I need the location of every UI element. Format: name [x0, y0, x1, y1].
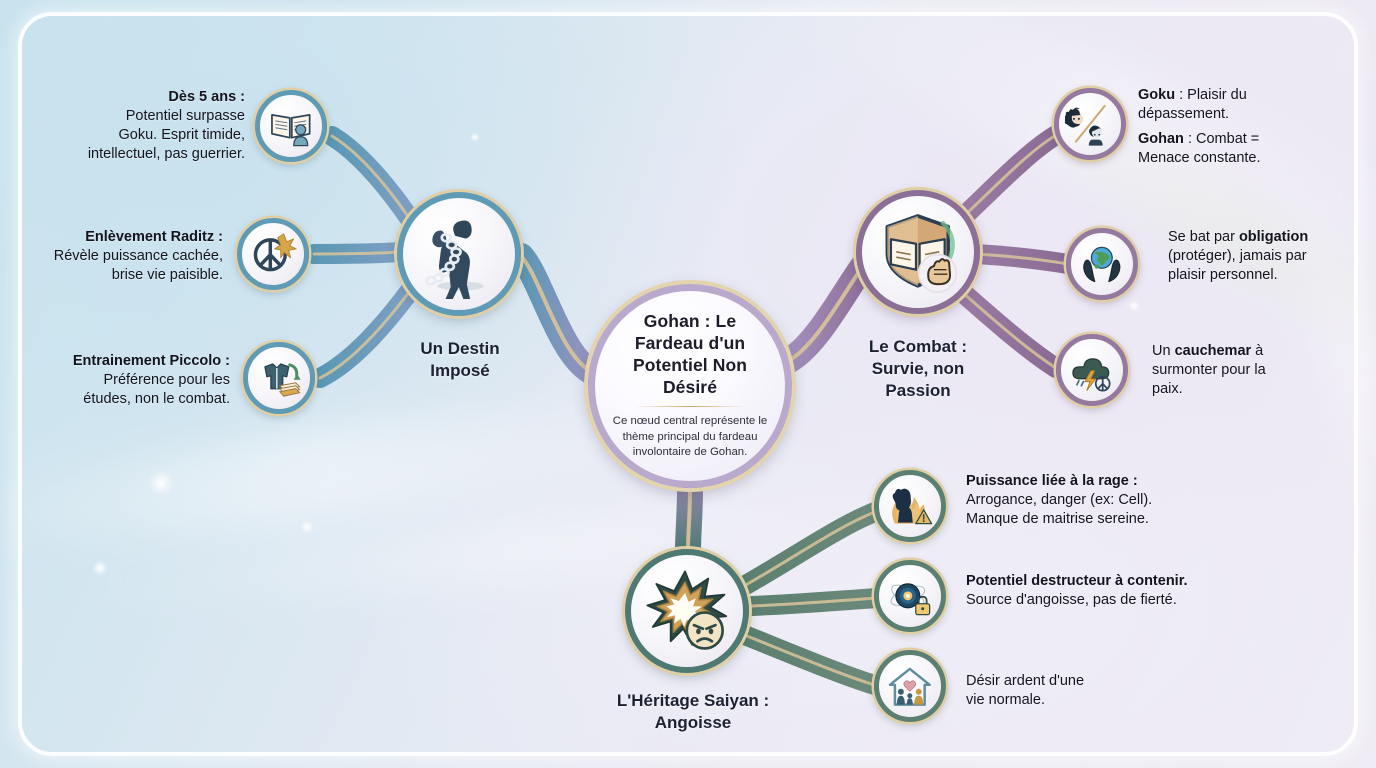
leaf-text-com-goku-gohan: Goku : Plaisir du dépassement. Gohan : C… — [1138, 86, 1363, 169]
open-book-child-icon — [260, 95, 322, 157]
leaf-node-des-raditz[interactable] — [237, 218, 309, 290]
goku-gohan-split-icon — [1059, 93, 1121, 155]
central-node-title: Gohan : Le Fardeau d'un Potentiel Non Dé… — [609, 311, 771, 399]
leaf-node-her-rage[interactable] — [874, 470, 946, 542]
branch-label-combat: Le Combat : Survie, non Passion — [828, 336, 1008, 402]
leaf-text-bold: Gohan — [1138, 131, 1184, 147]
branch-node-combat[interactable] — [856, 190, 980, 314]
leaf-node-com-obligation[interactable] — [1066, 228, 1138, 300]
leaf-text-des-raditz: Enlèvement Raditz : Révèle puissance cac… — [18, 228, 223, 285]
leaf-text-bold: obligation — [1239, 229, 1308, 245]
leaf-text-her-destructeur: Potentiel destructeur à contenir. Source… — [966, 572, 1231, 610]
branch-label-heritage: L'Héritage Saiyan : Angoisse — [578, 690, 808, 734]
decorative-bokeh — [300, 520, 314, 534]
storm-cloud-peace-icon — [1061, 339, 1123, 401]
branch-label-destin: Un Destin Imposé — [370, 338, 550, 382]
decorative-streak — [59, 481, 961, 619]
leaf-text-her-normale: Désir ardent d'une vie normale. — [966, 672, 1181, 710]
chained-figure-icon — [403, 198, 515, 310]
leaf-text-com-cauchemar: Un cauchemar à surmonter pour la paix. — [1152, 342, 1357, 399]
mindmap-canvas: Gohan : Le Fardeau d'un Potentiel Non Dé… — [0, 0, 1376, 768]
decorative-bokeh — [148, 470, 174, 496]
leaf-node-des-5ans[interactable] — [255, 90, 327, 162]
broken-peace-sign-icon — [242, 223, 304, 285]
decorative-bokeh — [92, 560, 108, 576]
decorative-bokeh — [1128, 300, 1140, 312]
central-divider — [634, 406, 746, 408]
leaf-node-com-goku-gohan[interactable] — [1054, 88, 1126, 160]
hands-holding-earth-icon — [1071, 233, 1133, 295]
leaf-node-her-destructeur[interactable] — [874, 560, 946, 632]
leaf-text-des-5ans: Dès 5 ans : Potentiel surpasse Goku. Esp… — [40, 88, 245, 165]
leaf-text-her-rage: Puissance liée à la rage : Arrogance, da… — [966, 472, 1211, 529]
gi-book-swap-icon — [248, 347, 310, 409]
leaf-text-bold: Goku — [1138, 87, 1175, 103]
central-node[interactable]: Gohan : Le Fardeau d'un Potentiel Non Dé… — [588, 284, 792, 488]
branch-node-destin[interactable] — [397, 192, 521, 316]
leaf-text-des-piccolo: Entrainement Piccolo : Préférence pour l… — [20, 352, 230, 409]
decorative-bokeh — [470, 132, 480, 142]
shield-book-fist-icon — [862, 196, 974, 308]
explosion-angry-face-icon — [631, 555, 743, 667]
central-node-subtitle: Ce nœud central représente le thème prin… — [609, 414, 771, 460]
flaming-warrior-warning-icon — [879, 475, 941, 537]
leaf-text-com-obligation: Se bat par obligation (protéger), jamais… — [1168, 228, 1373, 285]
leaf-node-com-cauchemar[interactable] — [1056, 334, 1128, 406]
family-home-heart-icon — [879, 655, 941, 717]
branch-node-heritage[interactable] — [625, 549, 749, 673]
leaf-text-bold: cauchemar — [1175, 343, 1252, 359]
leaf-node-her-normale[interactable] — [874, 650, 946, 722]
energy-orb-lock-icon — [879, 565, 941, 627]
leaf-node-des-piccolo[interactable] — [243, 342, 315, 414]
